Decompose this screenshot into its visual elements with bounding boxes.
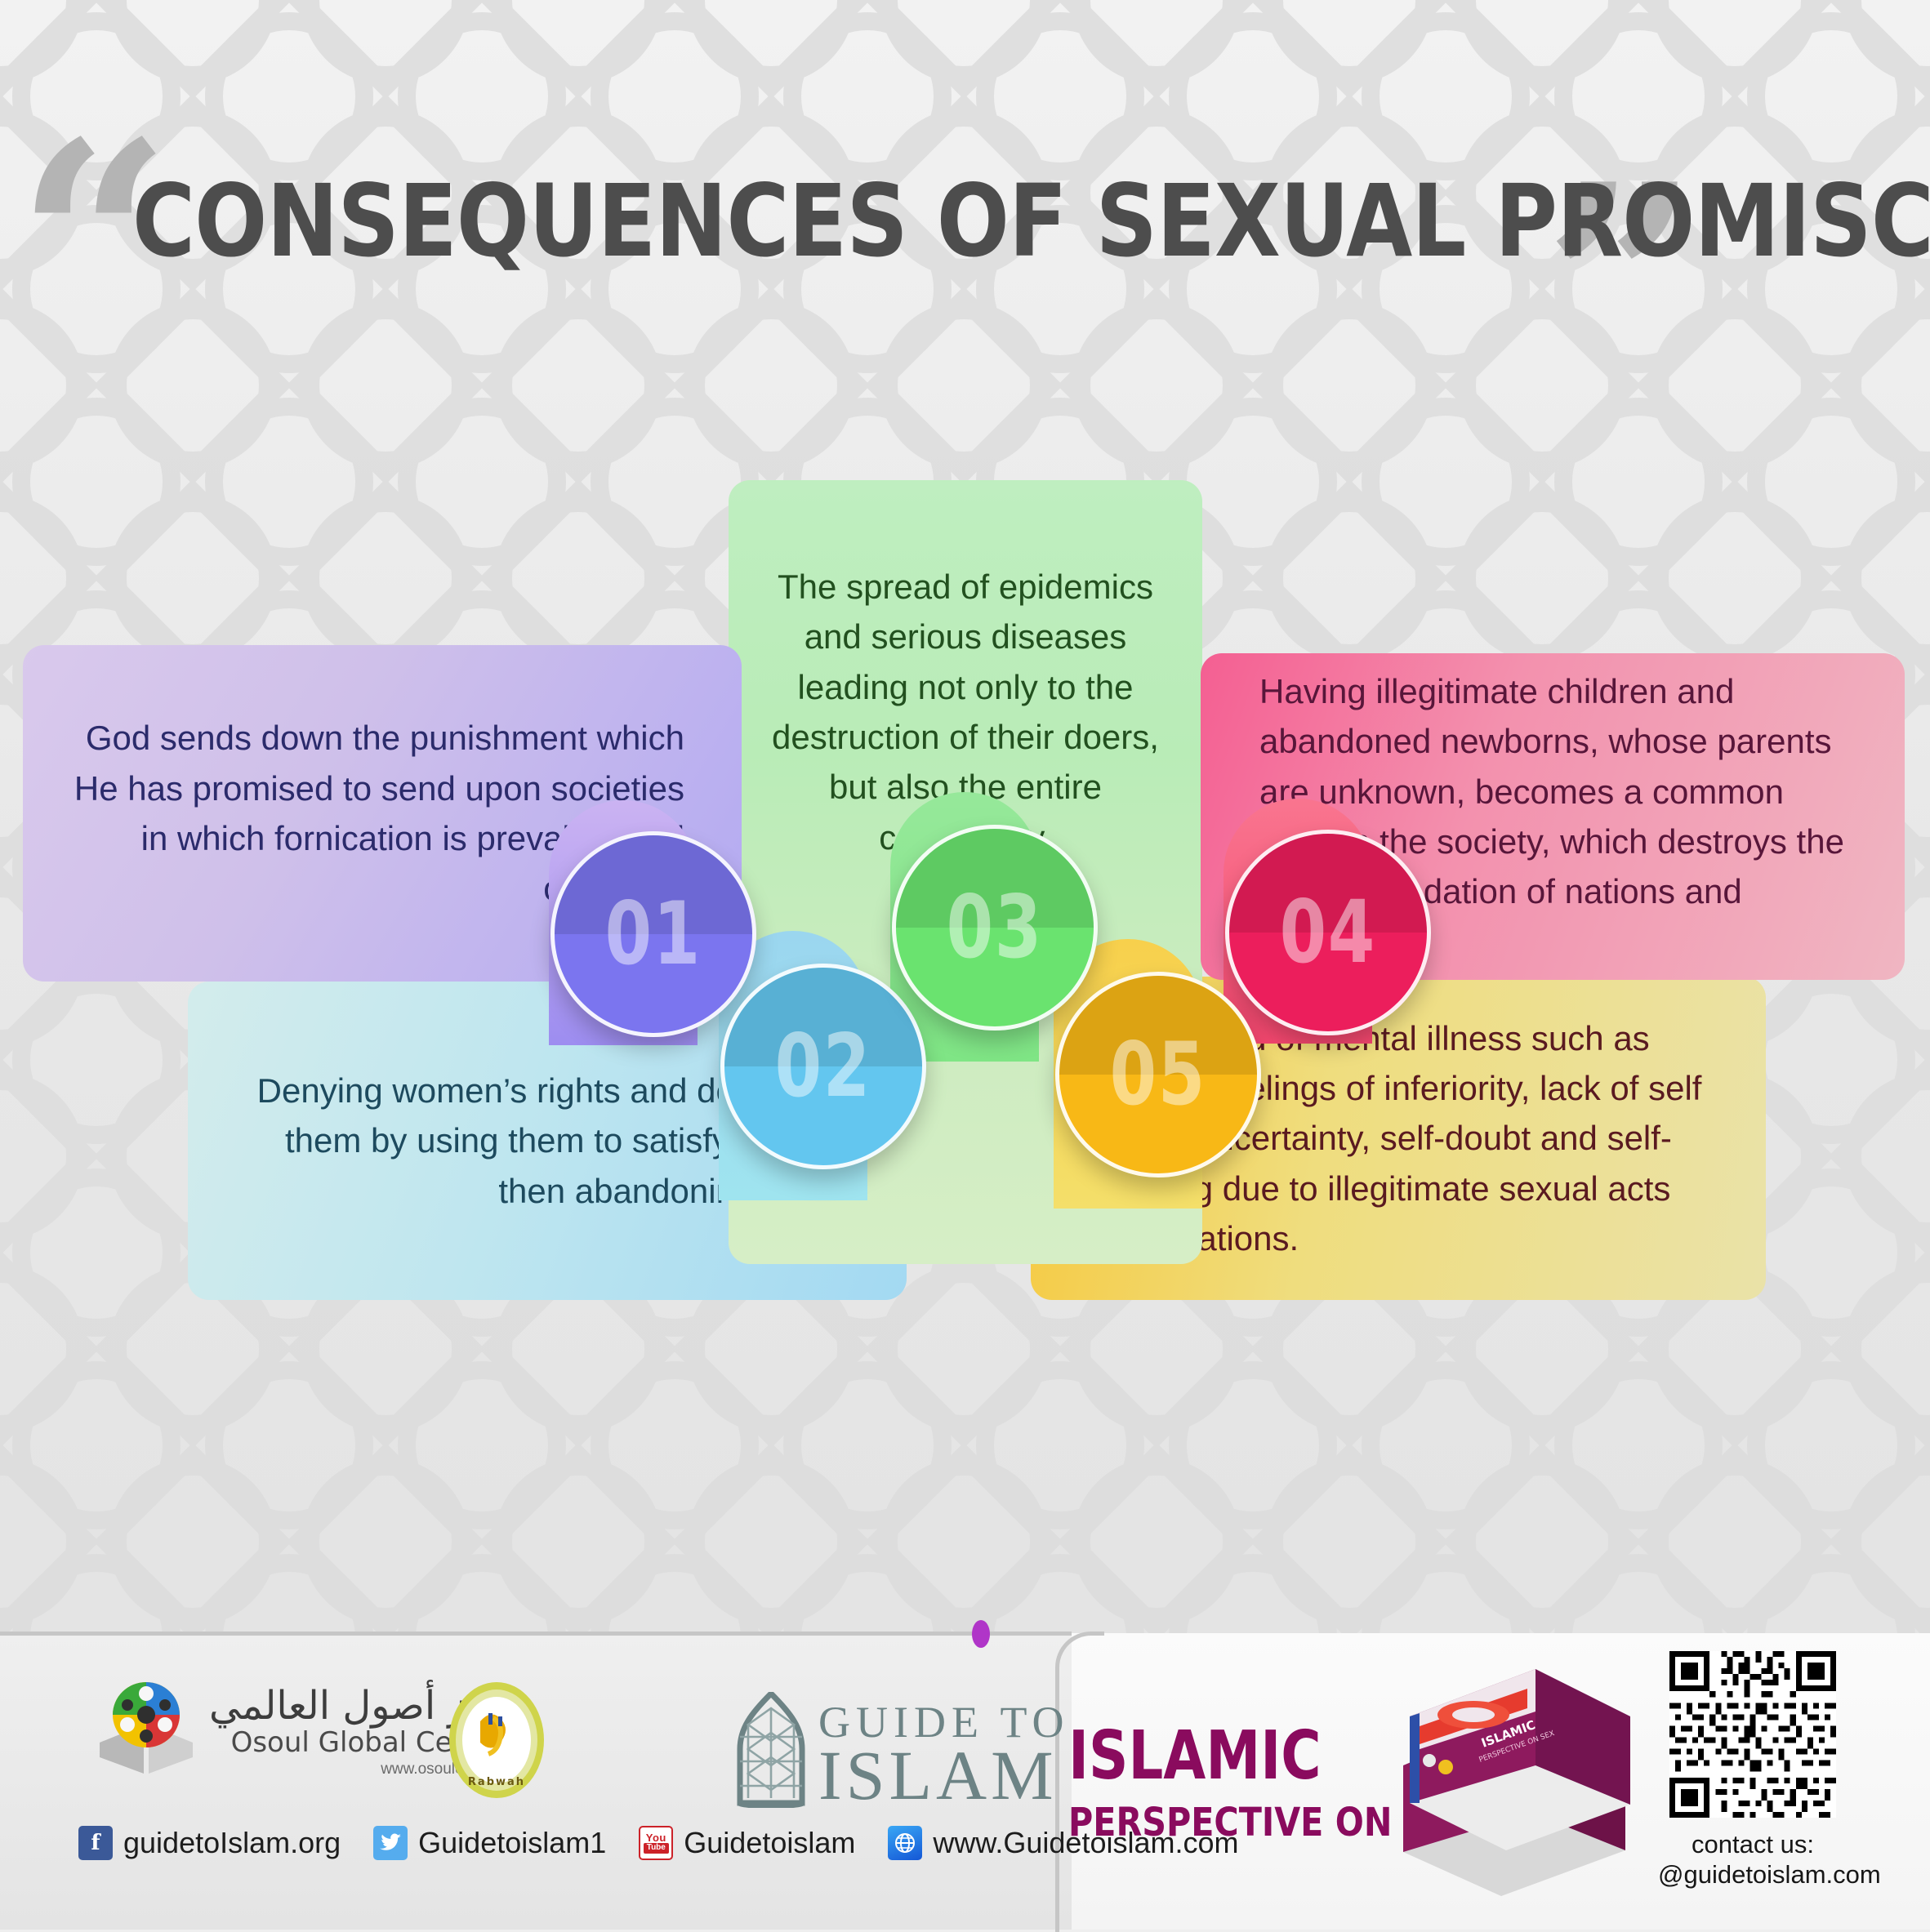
page-title: CONSEQUENCES OF SEXUAL PROMISCUITY (132, 171, 1930, 271)
step-number-04: 04 (1280, 889, 1376, 976)
step-number-03: 03 (947, 884, 1043, 971)
step-badge-02: 02 (720, 964, 926, 1169)
social-label-youtube: Guidetoislam (684, 1826, 855, 1860)
gti-line-2: ISLAM (818, 1743, 1070, 1808)
social-links-row: f guidetoIslam.org Guidetoislam1 You Tub… (78, 1826, 1239, 1860)
svg-text:Rabwah: Rabwah (468, 1776, 525, 1788)
facebook-icon: f (78, 1826, 113, 1860)
contact-label: contact us: (1658, 1830, 1848, 1860)
step-number-05: 05 (1110, 1031, 1206, 1118)
social-link-youtube[interactable]: You Tube Guidetoislam (639, 1826, 855, 1860)
twitter-bird-glyph (379, 1833, 402, 1853)
qr-contact-block: contact us: @guidetoislam.com (1658, 1651, 1848, 1890)
website-globe-icon (888, 1826, 922, 1860)
contact-email: @guidetoislam.com (1658, 1860, 1848, 1890)
step-badge-05: 05 (1055, 972, 1261, 1177)
youtube-icon: You Tube (639, 1826, 673, 1860)
rabwah-seal-icon: Rabwah (448, 1680, 546, 1800)
step-number-02: 02 (775, 1023, 871, 1110)
globe-glyph (893, 1831, 917, 1855)
twitter-icon (373, 1826, 408, 1860)
footer-divider-line (0, 1632, 1072, 1636)
footer-accent-dot (972, 1620, 990, 1648)
social-link-facebook[interactable]: f guidetoIslam.org (78, 1826, 341, 1860)
book-cover-image: ISLAMIC PERSPECTIVE ON SEX (1395, 1663, 1640, 1904)
social-label-twitter: Guidetoislam1 (418, 1826, 606, 1860)
social-link-twitter[interactable]: Guidetoislam1 (373, 1826, 606, 1860)
mosque-arch-icon (737, 1692, 805, 1808)
qr-code-icon[interactable] (1669, 1651, 1836, 1818)
guide-to-islam-logo: GUIDE TO ISLAM (737, 1692, 1070, 1808)
step-number-01: 01 (605, 891, 702, 977)
osoul-book-globe-icon (96, 1682, 196, 1778)
social-label-facebook: guidetoIslam.org (123, 1826, 341, 1860)
